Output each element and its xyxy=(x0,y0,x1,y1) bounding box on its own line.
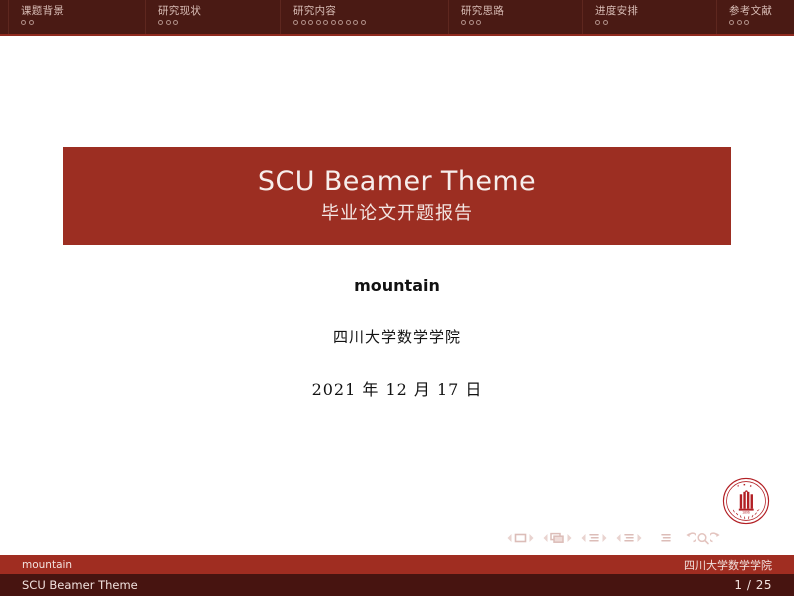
left-triangle-icon[interactable] xyxy=(580,532,587,544)
right-triangle-icon[interactable] xyxy=(566,532,573,544)
author-name: mountain xyxy=(0,275,794,297)
frame-nav[interactable] xyxy=(542,532,573,544)
footer-author: mountain xyxy=(22,559,72,571)
forward-arrow-icon[interactable] xyxy=(710,532,723,545)
nav-slide-dot[interactable] xyxy=(469,20,474,25)
nav-section-label: 参考文献 xyxy=(729,5,772,17)
search-nav[interactable] xyxy=(696,532,710,545)
search-icon[interactable] xyxy=(696,532,710,545)
page-title: SCU Beamer Theme xyxy=(258,165,536,199)
nav-section-label: 课题背景 xyxy=(21,5,64,17)
page-subtitle: 毕业论文开题报告 xyxy=(321,201,473,227)
back-arrow-icon[interactable] xyxy=(683,532,696,545)
nav-slide-dot[interactable] xyxy=(361,20,366,25)
right-triangle-icon[interactable] xyxy=(601,532,608,544)
nav-slide-dot[interactable] xyxy=(308,20,313,25)
nav-section-slide-dots[interactable] xyxy=(293,20,366,25)
nav-section-references[interactable]: 参考文献 xyxy=(716,0,772,34)
nav-slide-dot[interactable] xyxy=(338,20,343,25)
nav-slide-dot[interactable] xyxy=(737,20,742,25)
nav-section-background[interactable]: 课题背景 xyxy=(8,0,64,34)
institute-name: 四川大学数学学院 xyxy=(0,326,794,348)
nav-slide-dot[interactable] xyxy=(293,20,298,25)
frame-icon[interactable] xyxy=(549,532,566,544)
nav-slide-dot[interactable] xyxy=(166,20,171,25)
footer-title-bar: SCU Beamer Theme 1 / 25 xyxy=(0,574,794,596)
right-triangle-icon[interactable] xyxy=(636,532,643,544)
footer-page-number: 1 / 25 xyxy=(734,578,772,592)
nav-slide-dot[interactable] xyxy=(744,20,749,25)
left-triangle-icon[interactable] xyxy=(506,532,513,544)
nav-slide-dot[interactable] xyxy=(29,20,34,25)
presentation-date: 2021 年 12 月 17 日 xyxy=(0,379,794,401)
seal-year: 1896 xyxy=(742,511,750,515)
forward-nav[interactable] xyxy=(710,532,723,545)
doc-icon[interactable] xyxy=(659,532,673,544)
beamer-navigation-symbols[interactable] xyxy=(506,530,780,546)
footer-institute: 四川大学数学学院 xyxy=(684,557,772,573)
nav-section-approach[interactable]: 研究思路 xyxy=(448,0,504,34)
nav-slide-dot[interactable] xyxy=(301,20,306,25)
footer-title: SCU Beamer Theme xyxy=(22,578,138,592)
right-triangle-icon[interactable] xyxy=(528,532,535,544)
nav-slide-dot[interactable] xyxy=(353,20,358,25)
footer-author-bar: mountain 四川大学数学学院 xyxy=(0,555,794,574)
nav-section-label: 研究内容 xyxy=(293,5,366,17)
nav-slide-dot[interactable] xyxy=(729,20,734,25)
doc-nav[interactable] xyxy=(659,532,673,544)
back-nav[interactable] xyxy=(683,532,696,545)
section-icon[interactable] xyxy=(622,532,636,544)
nav-section-label: 进度安排 xyxy=(595,5,638,17)
nav-slide-dot[interactable] xyxy=(595,20,600,25)
nav-slide-dot[interactable] xyxy=(316,20,321,25)
nav-section-slide-dots[interactable] xyxy=(158,20,201,25)
nav-slide-dot[interactable] xyxy=(346,20,351,25)
nav-section-label: 研究思路 xyxy=(461,5,504,17)
nav-slide-dot[interactable] xyxy=(323,20,328,25)
title-block: SCU Beamer Theme 毕业论文开题报告 xyxy=(63,147,731,245)
nav-section-schedule[interactable]: 进度安排 xyxy=(582,0,638,34)
nav-slide-dot[interactable] xyxy=(603,20,608,25)
left-triangle-icon[interactable] xyxy=(615,532,622,544)
slide-icon[interactable] xyxy=(513,532,528,544)
nav-section-status[interactable]: 研究现状 xyxy=(145,0,201,34)
left-triangle-icon[interactable] xyxy=(542,532,549,544)
nav-slide-dot[interactable] xyxy=(21,20,26,25)
nav-section-slide-dots[interactable] xyxy=(461,20,504,25)
slide-nav[interactable] xyxy=(506,532,535,544)
subsection-nav[interactable] xyxy=(580,532,608,544)
nav-section-slide-dots[interactable] xyxy=(729,20,772,25)
nav-slide-dot[interactable] xyxy=(461,20,466,25)
scu-seal-icon: 1896 xyxy=(722,477,770,525)
nav-slide-dot[interactable] xyxy=(173,20,178,25)
scu-seal-logo: 1896 xyxy=(722,477,770,525)
nav-section-slide-dots[interactable] xyxy=(595,20,638,25)
nav-section-content[interactable]: 研究内容 xyxy=(280,0,366,34)
navigation-bar: 课题背景研究现状研究内容研究思路进度安排参考文献 xyxy=(0,0,794,36)
nav-slide-dot[interactable] xyxy=(331,20,336,25)
nav-section-slide-dots[interactable] xyxy=(21,20,64,25)
nav-slide-dot[interactable] xyxy=(158,20,163,25)
nav-slide-dot[interactable] xyxy=(476,20,481,25)
navbar-rule xyxy=(0,34,794,36)
section-nav[interactable] xyxy=(615,532,643,544)
subsection-icon[interactable] xyxy=(587,532,601,544)
title-meta: mountain 四川大学数学学院 2021 年 12 月 17 日 xyxy=(0,275,794,401)
nav-section-label: 研究现状 xyxy=(158,5,201,17)
